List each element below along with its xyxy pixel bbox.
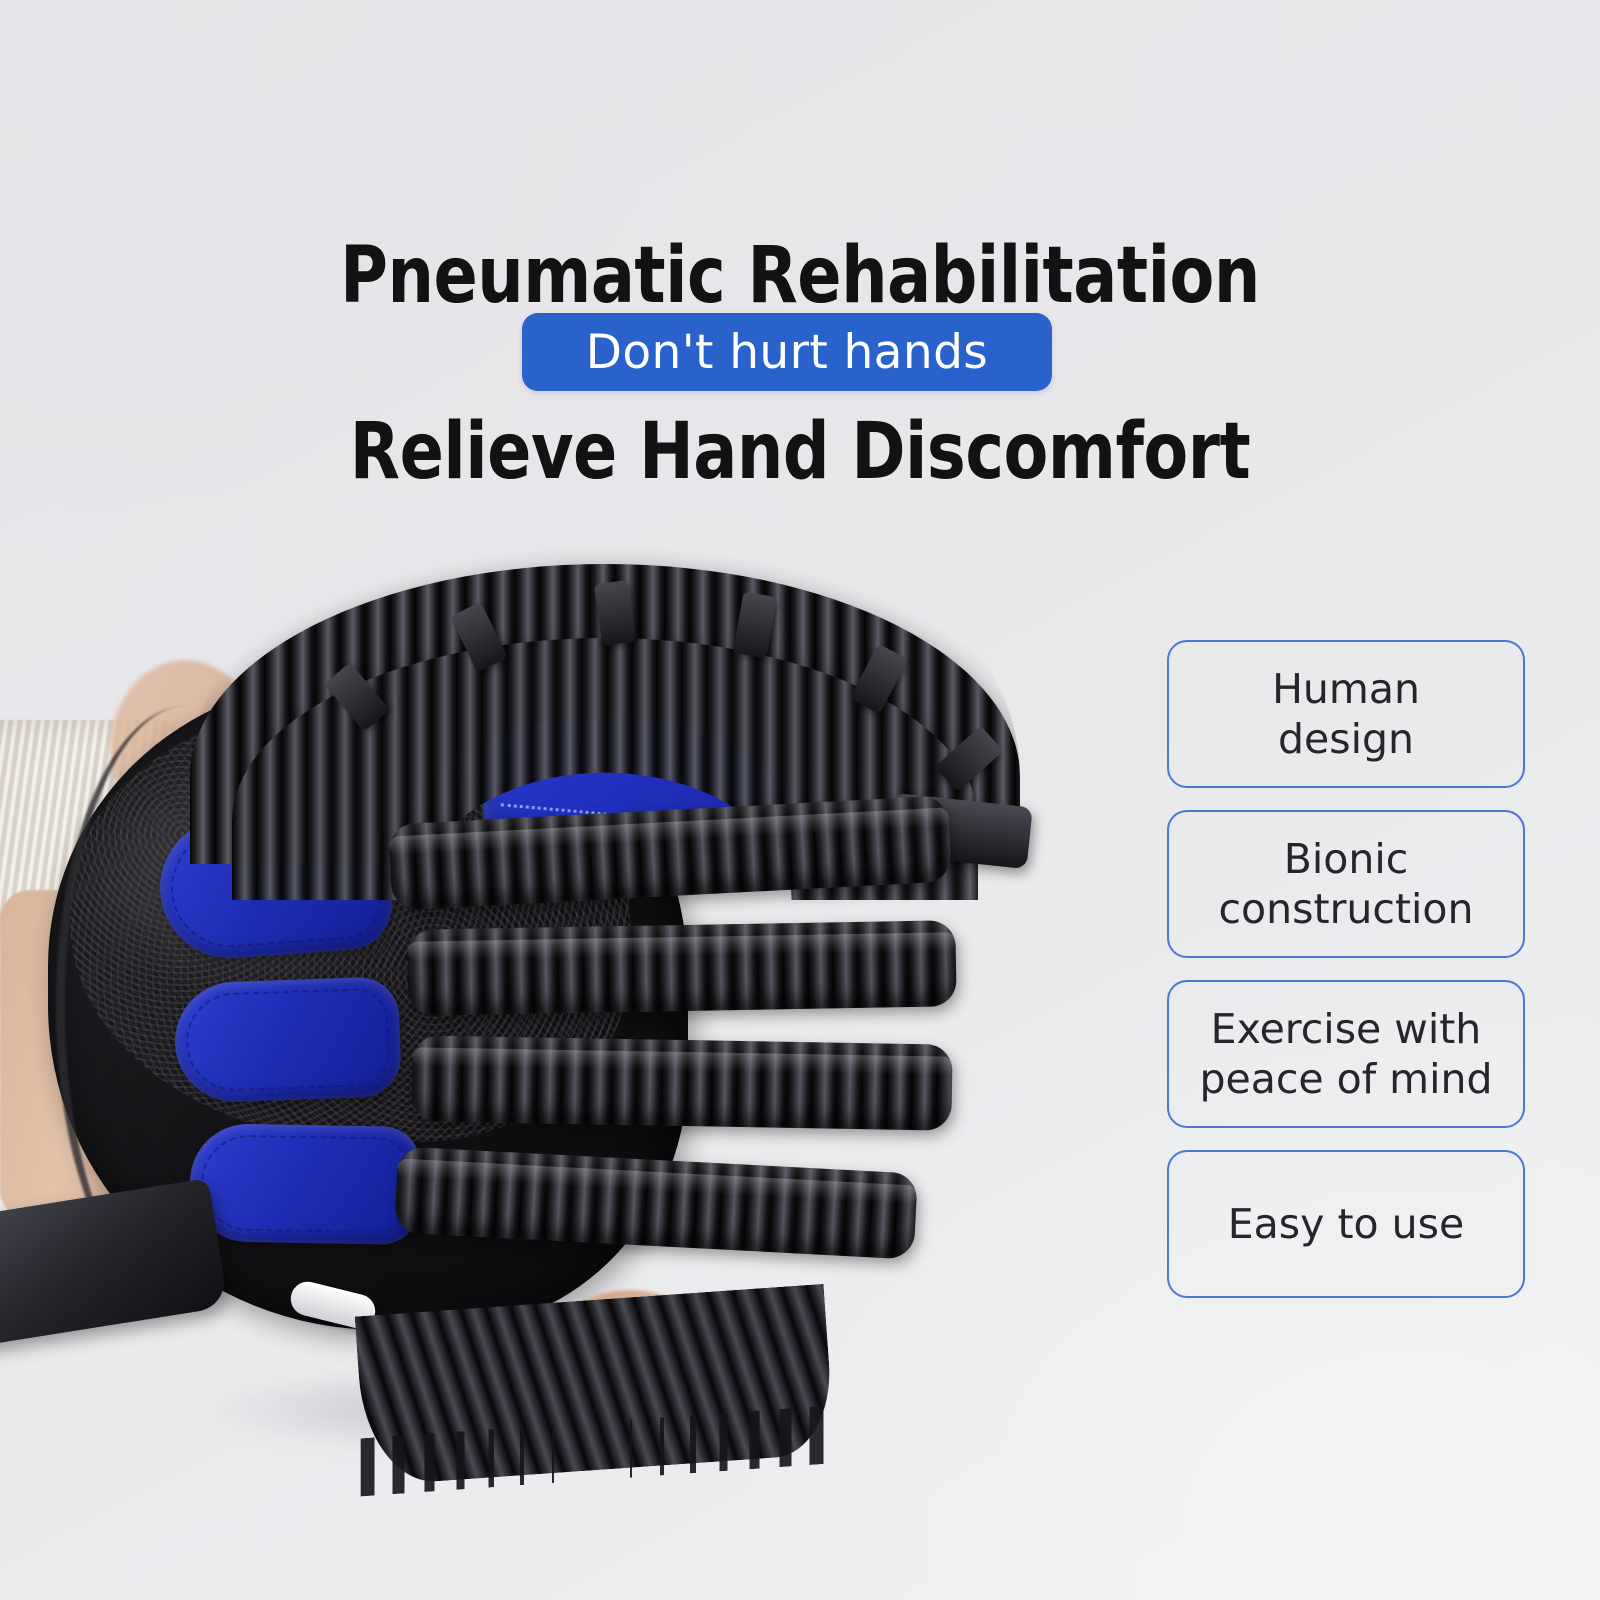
- tagline-badge-label: Don't hurt hands: [586, 325, 988, 380]
- promo-banner: Pneumatic Rehabilitation Relieve Hand Di…: [0, 0, 1600, 1600]
- feature-label: Easy to use: [1228, 1199, 1464, 1249]
- feature-box-easy-to-use: Easy to use: [1167, 1150, 1525, 1298]
- feature-box-human-design: Human design: [1167, 640, 1525, 788]
- finger-pad-2: [173, 976, 402, 1104]
- finger-pad-3: [189, 1123, 421, 1245]
- feature-label: Exercise with peace of mind: [1199, 1004, 1492, 1104]
- finger-actuator-3: [411, 1035, 952, 1130]
- product-photo: [0, 470, 1090, 1450]
- headline-line-2: Relieve Hand Discomfort: [56, 408, 1544, 496]
- feature-list: Human design Bionic construction Exercis…: [1167, 640, 1525, 1298]
- feature-box-bionic-construction: Bionic construction: [1167, 810, 1525, 958]
- feature-label: Bionic construction: [1219, 834, 1474, 934]
- feature-label: Human design: [1272, 664, 1420, 764]
- tagline-badge: Don't hurt hands: [522, 313, 1052, 391]
- finger-actuator-2: [407, 920, 956, 1016]
- feature-box-peace-of-mind: Exercise with peace of mind: [1167, 980, 1525, 1128]
- headline-line-1: Pneumatic Rehabilitation: [56, 232, 1544, 320]
